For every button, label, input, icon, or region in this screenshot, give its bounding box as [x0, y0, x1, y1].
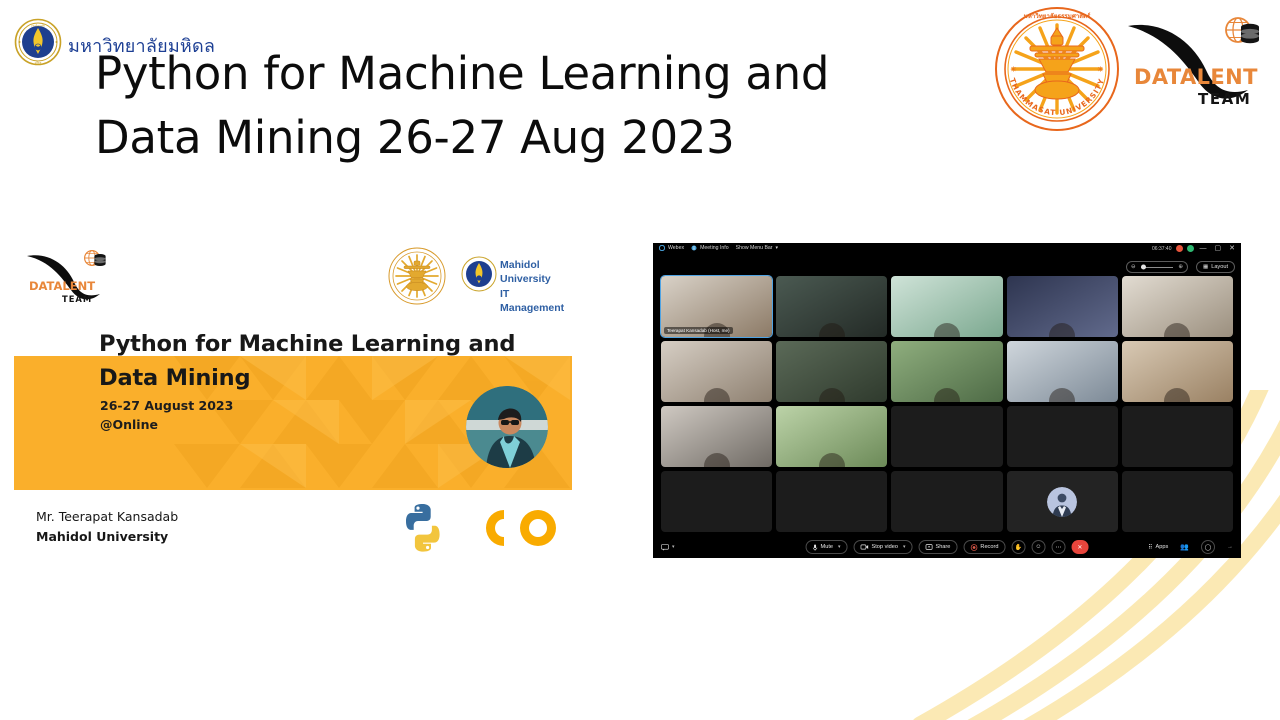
slide-thammasat-seal-icon — [388, 247, 446, 305]
record-label: Record — [980, 544, 998, 550]
slide-heading-line-2: Data Mining — [99, 365, 250, 391]
webex-view-controls: ⊖ ⊕ ▦ Layout — [1126, 261, 1235, 273]
participant-silhouette — [704, 453, 730, 467]
speaker-affiliation: Mahidol University — [36, 529, 168, 544]
participant-silhouette — [819, 323, 845, 337]
participant-tile[interactable] — [1007, 471, 1118, 532]
participant-tile[interactable] — [776, 406, 887, 467]
info-icon — [691, 245, 697, 251]
participant-silhouette — [704, 388, 730, 402]
close-icon[interactable]: ✕ — [1227, 245, 1237, 252]
participant-tile[interactable]: Teerapat Kansadab (Host, me) — [661, 276, 772, 337]
chat-bubble-icon[interactable]: ▾ — [661, 544, 675, 551]
participant-tile[interactable] — [1007, 276, 1118, 337]
slide-mahidol-seal-icon — [461, 256, 497, 292]
participant-tile[interactable] — [1122, 471, 1233, 532]
stop-video-label: Stop video — [872, 544, 898, 550]
more-options-icon[interactable]: ⋯ — [1051, 540, 1065, 554]
mute-button[interactable]: Mute ▾ — [806, 540, 848, 554]
participant-silhouette — [819, 388, 845, 402]
slide-datalent-logo: DATALENT TEAM — [26, 248, 112, 306]
layout-button[interactable]: ▦ Layout — [1196, 261, 1235, 273]
participant-tile[interactable] — [1122, 276, 1233, 337]
chat-panel-icon[interactable]: ◯ — [1201, 540, 1215, 554]
webex-app-label: Webex — [668, 245, 684, 251]
thammasat-seal-icon: มหาวิทยาลัยธรรมศาสตร์ THAMMASAT UNIVERSI… — [994, 6, 1120, 132]
camera-icon — [861, 544, 869, 550]
chevron-down-icon: ▾ — [838, 544, 841, 550]
datalent-team-label: TEAM — [1198, 90, 1251, 108]
participant-silhouette — [819, 453, 845, 467]
participant-silhouette — [1164, 323, 1190, 337]
record-button[interactable]: Record — [963, 540, 1005, 554]
show-menu-bar-button[interactable]: Show Menu Bar ▾ — [736, 245, 778, 251]
webex-toolbar: ▾ Mute ▾ Stop video ▾ Share Record ✋ — [653, 536, 1241, 558]
speaker-name: Mr. Teerapat Kansadab — [36, 509, 178, 524]
google-colab-logo-icon — [480, 502, 562, 554]
end-call-icon[interactable]: ✕ — [1071, 540, 1088, 554]
globe-database-icon — [1226, 18, 1259, 43]
zoom-knob[interactable] — [1141, 265, 1146, 270]
expand-arrow-icon[interactable]: → — [1227, 544, 1233, 550]
participant-tile[interactable] — [661, 406, 772, 467]
svg-text:มหิดล: มหิดล — [35, 60, 42, 64]
mu-line-2: IT Management — [500, 287, 572, 316]
participant-tile[interactable] — [1122, 341, 1233, 402]
svg-text:มหาวิทยาลัยธรรมศาสตร์: มหาวิทยาลัยธรรมศาสตร์ — [1024, 12, 1091, 20]
participant-tile[interactable] — [891, 341, 1002, 402]
zoom-slider[interactable]: ⊖ ⊕ — [1126, 261, 1188, 273]
participant-silhouette — [1164, 388, 1190, 402]
svg-text:มหาวิทยาลัย: มหาวิทยาลัย — [31, 23, 46, 27]
participant-silhouette — [1049, 323, 1075, 337]
participants-icon[interactable]: 👥 — [1180, 543, 1189, 551]
show-menu-bar-label: Show Menu Bar — [736, 245, 773, 251]
reactions-icon[interactable]: ☺ — [1031, 540, 1045, 554]
record-circle-icon — [970, 544, 977, 551]
meeting-info-button[interactable]: Meeting Info — [691, 245, 729, 251]
maximize-icon[interactable]: ▢ — [1213, 245, 1224, 252]
webex-logo-icon — [659, 245, 665, 251]
slide-heading-line-1: Python for Machine Learning and — [99, 331, 515, 357]
globe-database-icon — [85, 251, 106, 266]
zoom-in-icon[interactable]: ⊕ — [1178, 264, 1183, 270]
webex-app-button[interactable]: Webex — [659, 245, 684, 251]
mahidol-seal-icon: มหาวิทยาลัย มหิดล — [14, 18, 62, 66]
participant-tile[interactable] — [891, 276, 1002, 337]
share-screen-icon — [925, 544, 932, 550]
minimize-icon[interactable]: — — [1198, 245, 1209, 252]
slide-date: 26-27 August 2023 — [100, 398, 233, 413]
title-line-1: Python for Machine Learning and — [95, 42, 925, 106]
svg-text:✳: ✳ — [1097, 65, 1104, 74]
webex-meeting-window[interactable]: Webex Meeting Info Show Menu Bar ▾ 06:37… — [653, 243, 1241, 558]
mahidol-it-management-label: Mahidol University IT Management — [500, 258, 572, 316]
participant-name-label: Teerapat Kansadab (Host, me) — [664, 327, 733, 334]
apps-grid-icon: ⠿ — [1148, 544, 1152, 551]
participant-tile[interactable] — [891, 406, 1002, 467]
datalent-wordmark: DATALENT — [29, 279, 95, 293]
grid-layout-icon: ▦ — [1203, 264, 1208, 270]
mu-line-1: Mahidol University — [500, 258, 572, 287]
speaker-portrait-icon — [466, 386, 548, 468]
microphone-icon — [813, 544, 818, 551]
recording-dot-icon[interactable] — [1176, 245, 1183, 252]
stop-video-button[interactable]: Stop video ▾ — [854, 540, 913, 554]
connection-dot-icon[interactable] — [1187, 245, 1194, 252]
title-line-2: Data Mining 26-27 Aug 2023 — [95, 106, 925, 170]
datalent-team-label: TEAM — [62, 294, 92, 304]
participant-tile[interactable] — [1122, 406, 1233, 467]
raise-hand-icon[interactable]: ✋ — [1011, 540, 1025, 554]
participant-grid: Teerapat Kansadab (Host, me) — [661, 276, 1233, 532]
zoom-out-icon[interactable]: ⊖ — [1131, 264, 1136, 270]
participant-tile[interactable] — [776, 471, 887, 532]
share-button[interactable]: Share — [918, 540, 957, 554]
chevron-down-icon: ▾ — [672, 544, 675, 550]
participant-silhouette — [934, 323, 960, 337]
participant-tile[interactable] — [1007, 341, 1118, 402]
participant-tile[interactable] — [661, 471, 772, 532]
participant-tile[interactable] — [661, 341, 772, 402]
participant-tile[interactable] — [1007, 406, 1118, 467]
participant-tile[interactable] — [776, 276, 887, 337]
chevron-down-icon: ▾ — [903, 544, 906, 550]
slide-location: @Online — [100, 417, 158, 432]
datalent-logo: DATALENT TEAM — [1126, 14, 1266, 124]
svg-text:✳: ✳ — [1010, 65, 1017, 74]
page-title: Python for Machine Learning and Data Min… — [95, 42, 925, 170]
participant-silhouette — [1049, 388, 1075, 402]
share-label: Share — [935, 544, 950, 550]
chevron-down-icon: ▾ — [776, 245, 779, 251]
datalent-wordmark: DATALENT — [1134, 65, 1258, 89]
participant-tile[interactable] — [891, 471, 1002, 532]
participant-silhouette — [934, 388, 960, 402]
apps-button[interactable]: ⠿ Apps — [1148, 544, 1168, 551]
apps-label: Apps — [1156, 544, 1169, 550]
avatar — [1047, 487, 1077, 517]
meeting-info-label: Meeting Info — [700, 245, 729, 251]
mute-label: Mute — [821, 544, 833, 550]
webex-titlebar: Webex Meeting Info Show Menu Bar ▾ 06:37… — [653, 243, 1241, 259]
meeting-timer: 06:37:40 — [1152, 246, 1171, 252]
layout-label: Layout — [1211, 264, 1228, 270]
participant-tile[interactable] — [776, 341, 887, 402]
python-logo-icon — [395, 500, 451, 556]
